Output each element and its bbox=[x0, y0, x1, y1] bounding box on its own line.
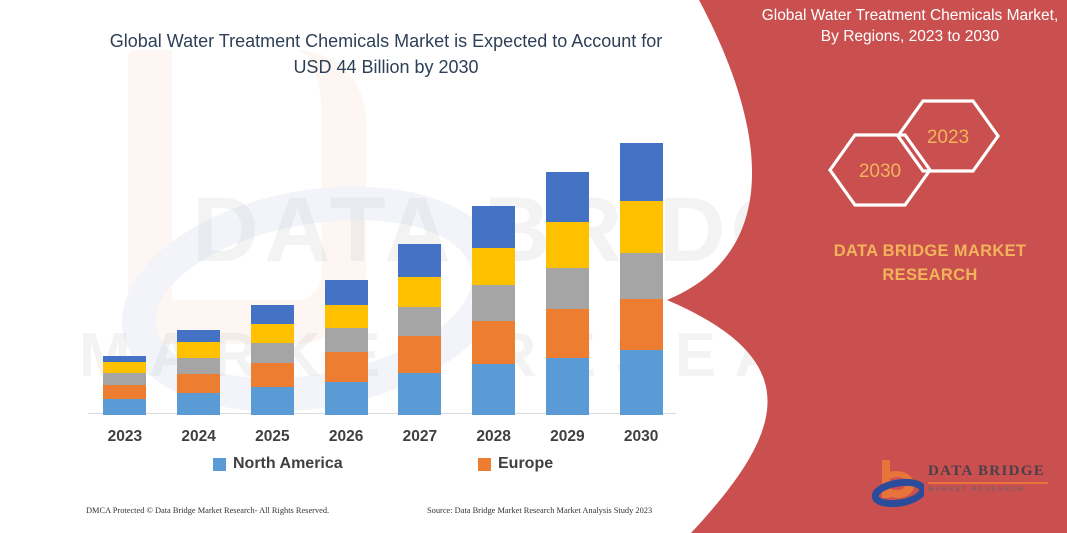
bar-2028 bbox=[472, 206, 515, 415]
legend-item-europe[interactable]: Europe bbox=[478, 455, 553, 473]
bar-segment-2028-series-3 bbox=[472, 285, 515, 320]
bar-segment-2030-series-4 bbox=[620, 201, 663, 253]
bar-segment-2024-series-5 bbox=[177, 330, 220, 343]
chart-legend: North AmericaEurope bbox=[88, 455, 678, 481]
x-label-2028: 2028 bbox=[462, 428, 526, 446]
stacked-bar-plot bbox=[88, 120, 678, 415]
x-axis-labels: 20232024202520262027202820292030 bbox=[88, 428, 678, 454]
hexagon-2023-label: 2023 bbox=[927, 127, 969, 148]
chart-title: Global Water Treatment Chemicals Market … bbox=[96, 28, 676, 80]
bar-2024 bbox=[177, 330, 220, 416]
bar-segment-2023-series-4 bbox=[103, 362, 146, 373]
bar-segment-2023-europe bbox=[103, 385, 146, 400]
bar-segment-2026-europe bbox=[325, 352, 368, 382]
bar-segment-2024-series-3 bbox=[177, 358, 220, 374]
x-label-2023: 2023 bbox=[93, 428, 157, 446]
hexagon-2030-label: 2030 bbox=[859, 161, 901, 182]
bar-segment-2028-series-5 bbox=[472, 206, 515, 248]
footer-copyright: DMCA Protected © Data Bridge Market Rese… bbox=[86, 506, 329, 515]
footer: DMCA Protected © Data Bridge Market Rese… bbox=[86, 506, 686, 524]
bar-segment-2026-series-3 bbox=[325, 328, 368, 352]
footer-source: Source: Data Bridge Market Research Mark… bbox=[427, 506, 652, 515]
x-label-2025: 2025 bbox=[240, 428, 304, 446]
bar-2027 bbox=[398, 244, 441, 415]
bar-segment-2029-series-4 bbox=[546, 222, 589, 267]
panel-brand-line-1: DATA BRIDGE MARKET bbox=[800, 240, 1060, 264]
bar-segment-2029-north-america bbox=[546, 358, 589, 415]
x-label-2030: 2030 bbox=[609, 428, 673, 446]
bar-segment-2025-series-3 bbox=[251, 343, 294, 363]
legend-swatch-icon bbox=[213, 458, 226, 471]
bar-2023 bbox=[103, 356, 146, 415]
bar-segment-2029-europe bbox=[546, 309, 589, 358]
panel-brand-line-2: RESEARCH bbox=[800, 264, 1060, 288]
bar-segment-2030-europe bbox=[620, 299, 663, 350]
bar-segment-2028-europe bbox=[472, 321, 515, 364]
bar-segment-2027-north-america bbox=[398, 373, 441, 415]
panel-brand: DATA BRIDGE MARKET RESEARCH bbox=[800, 240, 1060, 288]
x-label-2024: 2024 bbox=[167, 428, 231, 446]
logo-tagline: MARKET RESEARCH bbox=[928, 487, 1052, 494]
logo-divider bbox=[928, 482, 1048, 484]
bar-segment-2025-north-america bbox=[251, 387, 294, 415]
legend-label: Europe bbox=[498, 455, 553, 473]
bar-2025 bbox=[251, 305, 294, 415]
bar-segment-2026-series-5 bbox=[325, 280, 368, 305]
bar-segment-2024-series-4 bbox=[177, 342, 220, 358]
panel-title: Global Water Treatment Chemicals Market,… bbox=[760, 6, 1060, 48]
bar-segment-2024-north-america bbox=[177, 393, 220, 415]
bar-segment-2024-europe bbox=[177, 374, 220, 394]
bar-segment-2026-north-america bbox=[325, 382, 368, 415]
bar-segment-2030-series-3 bbox=[620, 253, 663, 299]
bar-segment-2027-series-4 bbox=[398, 277, 441, 307]
bar-segment-2027-europe bbox=[398, 336, 441, 372]
logo-wordmark: DATA BRIDGE MARKET RESEARCH bbox=[928, 464, 1052, 494]
bar-segment-2029-series-3 bbox=[546, 268, 589, 309]
infographic-canvas: DATA BRIDGE MARKET RESEARCH Global Water… bbox=[0, 0, 1067, 533]
x-label-2027: 2027 bbox=[388, 428, 452, 446]
bar-segment-2027-series-5 bbox=[398, 244, 441, 277]
bar-2029 bbox=[546, 172, 589, 415]
x-label-2026: 2026 bbox=[314, 428, 378, 446]
bar-segment-2027-series-3 bbox=[398, 307, 441, 337]
bar-2030 bbox=[620, 143, 663, 415]
legend-label: North America bbox=[233, 455, 343, 473]
bar-2026 bbox=[325, 280, 368, 415]
logo-b-icon bbox=[872, 458, 924, 508]
legend-item-north-america[interactable]: North America bbox=[213, 455, 343, 473]
hexagon-badges: 2030 2023 bbox=[800, 92, 1030, 212]
bar-segment-2025-series-5 bbox=[251, 305, 294, 324]
bar-segment-2029-series-5 bbox=[546, 172, 589, 222]
bar-segment-2023-series-3 bbox=[103, 373, 146, 385]
legend-swatch-icon bbox=[478, 458, 491, 471]
bar-segment-2028-north-america bbox=[472, 364, 515, 415]
bar-segment-2030-series-5 bbox=[620, 143, 663, 201]
bar-segment-2028-series-4 bbox=[472, 248, 515, 285]
logo-name: DATA BRIDGE bbox=[928, 464, 1052, 479]
bar-segment-2023-north-america bbox=[103, 399, 146, 415]
bar-segment-2026-series-4 bbox=[325, 305, 368, 329]
bar-segment-2025-series-4 bbox=[251, 324, 294, 344]
bar-segment-2030-north-america bbox=[620, 350, 663, 415]
bar-segment-2025-europe bbox=[251, 363, 294, 388]
x-label-2029: 2029 bbox=[535, 428, 599, 446]
data-bridge-logo: DATA BRIDGE MARKET RESEARCH bbox=[872, 458, 1052, 510]
